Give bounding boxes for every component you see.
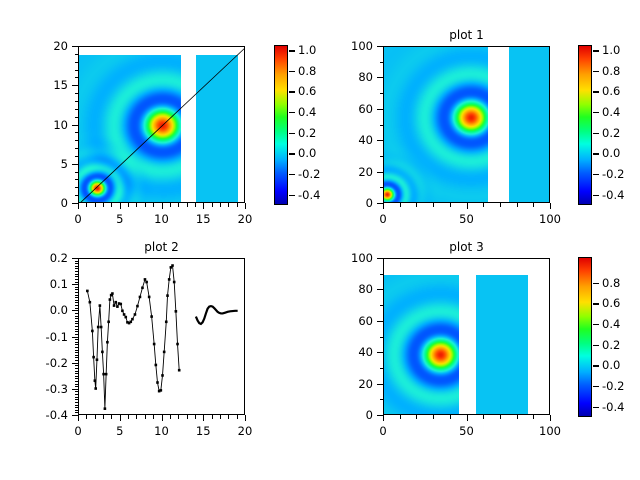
x-tick [170, 415, 171, 419]
x-tick [128, 203, 129, 207]
y-tick [75, 62, 79, 63]
y-tick [75, 266, 79, 267]
colorbar-gradient [274, 45, 288, 205]
x-tick-label: 0 [74, 212, 81, 226]
x-tick [145, 415, 146, 419]
y-tick [75, 156, 79, 157]
data-point-marker [106, 341, 109, 344]
colorbar-tick [593, 195, 599, 196]
colorbar-tick-label: 0.8 [602, 64, 620, 78]
y-tick-label: -0.3 [8, 382, 68, 396]
y-tick [75, 195, 79, 196]
data-point-marker [136, 305, 139, 308]
x-tick [103, 415, 104, 419]
x-tick [145, 203, 146, 207]
y-tick [377, 289, 383, 290]
colorbar-tick-label: 0.4 [602, 317, 620, 331]
x-tick [162, 203, 163, 209]
y-tick [75, 378, 79, 379]
y-tick [377, 77, 383, 78]
y-tick [75, 292, 79, 293]
y-tick [75, 300, 79, 301]
y-tick [75, 318, 79, 319]
x-tick [195, 415, 196, 419]
y-tick [75, 179, 79, 180]
x-tick [517, 203, 518, 207]
colorbar-tick-label: 0.2 [602, 338, 620, 352]
colorbar-tick [593, 91, 599, 92]
y-tick [75, 140, 79, 141]
y-tick [377, 109, 383, 110]
x-tick [400, 415, 401, 419]
data-point-marker [176, 343, 179, 346]
colorbar-tick [593, 133, 599, 134]
plot-area-top-left [78, 46, 245, 203]
image-patch [384, 275, 459, 415]
data-point-marker [124, 316, 127, 319]
colorbar-tick-label: 0.4 [602, 105, 620, 119]
colorbar-tick [593, 50, 599, 51]
y-tick [75, 263, 79, 264]
data-point-marker [161, 374, 164, 377]
y-tick-label: 0.2 [8, 251, 68, 265]
x-tick-label: 10 [154, 424, 169, 438]
x-tick [533, 415, 534, 419]
y-tick [75, 399, 79, 400]
x-tick-label: 5 [116, 424, 123, 438]
image-patch [509, 47, 550, 203]
plot-area-top-right [383, 46, 550, 203]
colorbar-tick-label: 0.0 [602, 146, 620, 160]
y-tick [72, 415, 78, 416]
image-patch [384, 47, 488, 203]
x-tick [203, 415, 204, 421]
y-tick [72, 337, 78, 338]
y-tick-label: 0 [8, 196, 68, 210]
x-tick-label: 50 [459, 424, 474, 438]
x-tick [78, 415, 79, 421]
y-tick [75, 344, 79, 345]
x-tick [111, 203, 112, 207]
y-tick-label: -0.1 [8, 330, 68, 344]
y-tick [75, 172, 79, 173]
data-point-marker [111, 292, 114, 295]
colorbar-tick [593, 153, 599, 154]
x-tick [467, 203, 468, 209]
x-tick [467, 415, 468, 421]
line-path [87, 266, 179, 409]
y-tick [75, 321, 79, 322]
y-tick [75, 376, 79, 377]
data-point-marker [160, 389, 163, 392]
x-tick [416, 203, 417, 207]
y-tick [72, 46, 78, 47]
colorbar-tick-label: -0.2 [602, 167, 624, 181]
y-tick [75, 397, 79, 398]
panel-title: plot 2 [78, 240, 245, 254]
x-tick [78, 203, 79, 209]
x-tick [550, 203, 551, 209]
data-point-marker [116, 305, 119, 308]
x-tick [220, 203, 221, 207]
data-point-marker [171, 264, 174, 267]
x-tick [178, 415, 179, 419]
x-tick [128, 415, 129, 419]
colorbar-tick-label: -0.4 [602, 188, 624, 202]
x-tick [212, 203, 213, 207]
y-tick [75, 279, 79, 280]
y-tick [377, 384, 383, 385]
y-tick [75, 268, 79, 269]
y-tick [75, 93, 79, 94]
x-tick [533, 203, 534, 207]
y-tick [75, 410, 79, 411]
colorbar-tick [289, 174, 295, 175]
y-tick [380, 368, 384, 369]
data-point-marker [129, 321, 132, 324]
colorbar-tick-label: 0.6 [602, 296, 620, 310]
data-point-marker [148, 296, 151, 299]
data-point-marker [163, 351, 166, 354]
y-tick [75, 342, 79, 343]
y-tick [75, 302, 79, 303]
colorbar-tick-label: 1.0 [602, 43, 620, 57]
x-tick [433, 203, 434, 207]
y-tick [75, 101, 79, 102]
y-tick [75, 331, 79, 332]
x-tick-label: 5 [116, 212, 123, 226]
y-tick [380, 337, 384, 338]
y-tick-label: -0.4 [8, 408, 68, 422]
data-point-marker [134, 313, 137, 316]
x-tick-label: 10 [154, 212, 169, 226]
colorbar-tick-label: -0.4 [602, 400, 624, 414]
x-tick [111, 415, 112, 419]
data-point-marker [86, 290, 89, 293]
colorbar-tick [593, 174, 599, 175]
y-tick [75, 350, 79, 351]
x-tick-label: 0 [74, 424, 81, 438]
y-tick [75, 70, 79, 71]
colorbar-tick [593, 71, 599, 72]
colorbar-tick-label: 0.0 [298, 146, 316, 160]
y-tick [75, 412, 79, 413]
x-tick [162, 415, 163, 421]
y-tick [72, 310, 78, 311]
x-tick-label: 0 [379, 424, 386, 438]
data-point-marker [89, 301, 92, 304]
y-tick-label: 0 [313, 408, 373, 422]
y-tick [380, 399, 384, 400]
colorbar-tick [289, 112, 295, 113]
data-point-marker [155, 364, 158, 367]
y-tick [377, 140, 383, 141]
x-tick [86, 203, 87, 207]
x-tick [517, 415, 518, 419]
y-tick [72, 284, 78, 285]
data-point-marker [109, 298, 112, 301]
y-tick-label: 60 [313, 314, 373, 328]
x-tick-label: 0 [379, 212, 386, 226]
panel-title: plot 1 [383, 28, 550, 42]
x-tick [500, 415, 501, 419]
y-tick-label: 10 [8, 118, 68, 132]
data-point-marker [165, 321, 168, 324]
y-tick [75, 391, 79, 392]
y-tick [380, 156, 384, 157]
data-point-marker [96, 358, 99, 361]
colorbar-tick-label: 0.2 [602, 126, 620, 140]
data-point-marker [121, 310, 124, 313]
y-tick [380, 93, 384, 94]
line-path [196, 306, 238, 324]
y-tick [75, 329, 79, 330]
data-point-marker [102, 373, 105, 376]
y-tick [75, 360, 79, 361]
y-tick [75, 402, 79, 403]
y-tick [380, 62, 384, 63]
data-point-marker [153, 343, 156, 346]
x-tick-label: 50 [459, 212, 474, 226]
x-tick [383, 415, 384, 421]
x-tick [228, 415, 229, 419]
data-point-marker [175, 310, 178, 313]
y-tick-label: 40 [313, 345, 373, 359]
data-point-marker [131, 318, 134, 321]
y-tick [75, 54, 79, 55]
x-tick [416, 415, 417, 419]
data-point-marker [144, 278, 147, 281]
y-tick [75, 274, 79, 275]
colorbar-tick [289, 71, 295, 72]
colorbar-gradient [578, 257, 592, 417]
colorbar-tick [289, 50, 295, 51]
x-tick [245, 415, 246, 421]
colorbar-tick-label: 0.8 [602, 276, 620, 290]
x-tick [483, 203, 484, 207]
colorbar-tick [593, 112, 599, 113]
y-tick [75, 148, 79, 149]
data-point-marker [166, 294, 169, 297]
x-tick [237, 415, 238, 419]
colorbar-tick [593, 407, 599, 408]
y-tick [75, 305, 79, 306]
x-tick [153, 415, 154, 419]
y-tick [377, 415, 383, 416]
y-tick [72, 125, 78, 126]
panel-title: plot 3 [383, 240, 550, 254]
y-tick [380, 187, 384, 188]
colorbar-tick [593, 386, 599, 387]
y-tick [75, 117, 79, 118]
data-point-marker [91, 330, 94, 333]
y-tick-label: 20 [313, 165, 373, 179]
colorbar-tick-label: -0.2 [602, 379, 624, 393]
y-tick-label: 100 [313, 39, 373, 53]
data-point-marker [94, 379, 97, 382]
x-tick [203, 203, 204, 209]
y-tick [75, 308, 79, 309]
plot-area-bottom-right [383, 258, 550, 415]
y-tick [75, 287, 79, 288]
y-tick [75, 368, 79, 369]
x-tick [170, 203, 171, 207]
y-tick [72, 389, 78, 390]
y-tick [75, 326, 79, 327]
y-tick [377, 258, 383, 259]
data-point-marker [100, 326, 103, 329]
colorbar-tick [289, 195, 295, 196]
y-tick-label: 20 [8, 39, 68, 53]
y-tick [75, 394, 79, 395]
y-tick [75, 407, 79, 408]
plot-area-bottom-left [78, 258, 245, 415]
y-tick-label: 15 [8, 78, 68, 92]
y-tick [377, 172, 383, 173]
x-tick [120, 203, 121, 209]
colorbar-tick [593, 324, 599, 325]
x-tick [153, 203, 154, 207]
colorbar [578, 45, 592, 205]
x-tick [550, 415, 551, 421]
y-tick [75, 365, 79, 366]
colorbar-tick [289, 91, 295, 92]
data-point-marker [178, 369, 181, 372]
y-tick [72, 203, 78, 204]
y-tick [75, 347, 79, 348]
data-point-marker [119, 303, 122, 306]
figure-canvas: 05101520051015201.00.80.60.40.20.0-0.2-0… [0, 0, 640, 480]
x-tick [237, 203, 238, 207]
y-tick-label: 0.0 [8, 303, 68, 317]
colorbar-tick-label: 0.0 [602, 358, 620, 372]
y-tick [380, 125, 384, 126]
y-tick [75, 373, 79, 374]
y-tick-label: 0 [313, 196, 373, 210]
x-tick-label: 100 [539, 212, 561, 226]
y-tick [75, 386, 79, 387]
data-point-marker [150, 315, 153, 318]
y-tick [75, 381, 79, 382]
y-tick [72, 85, 78, 86]
y-tick [377, 203, 383, 204]
y-tick [72, 164, 78, 165]
x-tick [95, 415, 96, 419]
y-tick [75, 282, 79, 283]
x-tick [450, 203, 451, 207]
x-tick [120, 415, 121, 421]
colorbar [578, 257, 592, 417]
x-tick [500, 203, 501, 207]
data-point-marker [139, 296, 142, 299]
y-tick [75, 187, 79, 188]
y-tick [75, 339, 79, 340]
data-point-marker [168, 278, 171, 281]
y-tick [377, 352, 383, 353]
x-tick [195, 203, 196, 207]
x-tick [433, 415, 434, 419]
data-point-marker [113, 304, 116, 307]
data-point-marker [123, 313, 126, 316]
line-series-group [79, 259, 245, 415]
y-tick [75, 352, 79, 353]
x-tick-label: 15 [196, 212, 211, 226]
y-tick [75, 316, 79, 317]
x-tick [136, 203, 137, 207]
data-point-marker [145, 281, 148, 284]
data-point-marker [94, 387, 97, 390]
y-tick [75, 405, 79, 406]
colorbar-tick [593, 303, 599, 304]
y-tick-label: 80 [313, 282, 373, 296]
colorbar-tick [593, 283, 599, 284]
x-tick [450, 415, 451, 419]
x-tick [212, 415, 213, 419]
y-tick-label: 5 [8, 157, 68, 171]
x-tick [220, 415, 221, 419]
y-tick [75, 271, 79, 272]
y-tick-label: 60 [313, 102, 373, 116]
data-point-marker [173, 281, 176, 284]
colorbar-tick [289, 133, 295, 134]
data-point-marker [141, 286, 144, 289]
x-tick [187, 203, 188, 207]
y-tick [380, 305, 384, 306]
y-tick [75, 313, 79, 314]
data-point-marker [99, 304, 102, 307]
y-tick [75, 261, 79, 262]
y-tick-label: -0.2 [8, 356, 68, 370]
y-tick [75, 323, 79, 324]
x-tick-label: 20 [238, 424, 253, 438]
y-tick [75, 357, 79, 358]
colorbar-tick-label: 0.6 [602, 84, 620, 98]
y-tick [377, 321, 383, 322]
y-tick-label: 100 [313, 251, 373, 265]
y-tick [75, 132, 79, 133]
y-tick [75, 109, 79, 110]
colorbar-tick [289, 153, 295, 154]
image-patch [476, 275, 528, 415]
x-tick [245, 203, 246, 209]
y-tick [75, 276, 79, 277]
x-tick [86, 415, 87, 419]
data-point-marker [92, 356, 95, 359]
x-tick [228, 203, 229, 207]
x-tick [400, 203, 401, 207]
y-tick [380, 274, 384, 275]
y-tick [75, 371, 79, 372]
y-tick [75, 289, 79, 290]
data-point-marker [104, 407, 107, 410]
x-tick [483, 415, 484, 419]
y-tick-label: 80 [313, 70, 373, 84]
y-tick [75, 334, 79, 335]
colorbar-tick [593, 345, 599, 346]
colorbar-tick [593, 365, 599, 366]
y-tick [75, 295, 79, 296]
x-tick-label: 100 [539, 424, 561, 438]
colorbar [274, 45, 288, 205]
y-tick [75, 355, 79, 356]
x-tick [103, 203, 104, 207]
y-tick [377, 46, 383, 47]
diagonal-overlay-line [79, 47, 245, 203]
y-tick [72, 258, 78, 259]
x-tick [383, 203, 384, 209]
y-tick-label: 20 [313, 377, 373, 391]
y-tick [75, 384, 79, 385]
